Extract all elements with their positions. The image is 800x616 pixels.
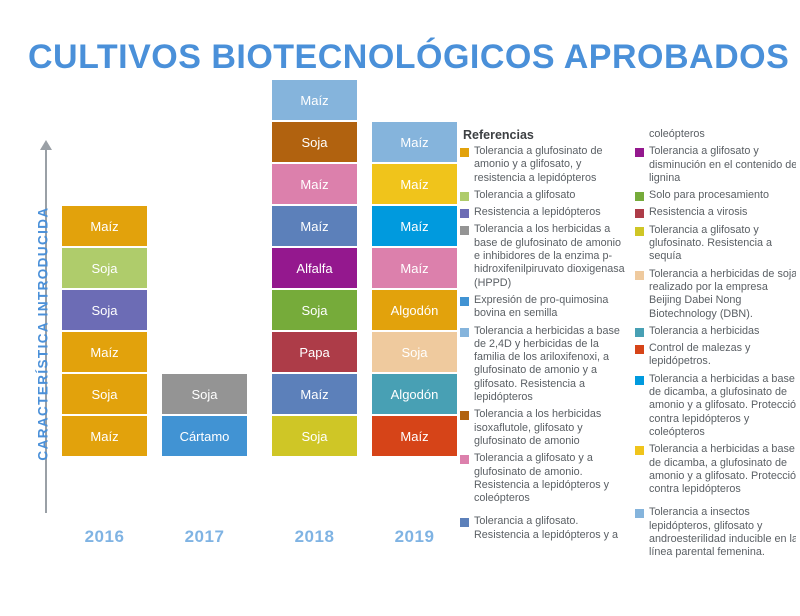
- bar-segment: Maíz: [62, 416, 147, 456]
- bar-column-2018: MaízSojaMaízMaízAlfalfaSojaPapaMaízSoja: [272, 80, 357, 456]
- legend-item: Tolerancia a los herbicidas a base de gl…: [460, 223, 628, 289]
- legend-item-label: Tolerancia a herbicidas a base de dicamb…: [649, 443, 796, 496]
- legend-swatch-icon: [460, 411, 469, 420]
- legend-swatch-icon: [460, 518, 469, 527]
- legend-swatch-icon: [635, 192, 644, 201]
- bar-segment: Soja: [62, 374, 147, 414]
- legend-item: Resistencia a virosis: [635, 206, 796, 219]
- legend-swatch-icon: [635, 446, 644, 455]
- bar-segment: Papa: [272, 332, 357, 372]
- legend-item-label: Tolerancia a herbicidas a base de dicamb…: [649, 373, 796, 439]
- legend-swatch-icon: [635, 209, 644, 218]
- legend-item: Tolerancia a glifosato y disminución en …: [635, 145, 796, 185]
- legend-swatch-icon: [635, 376, 644, 385]
- legend-item-label: Tolerancia a glifosato y glufosinato. Re…: [649, 224, 796, 264]
- legend-swatch-icon: [460, 148, 469, 157]
- legend-item: Tolerancia a herbicidas a base de dicamb…: [635, 373, 796, 439]
- bar-segment: Maíz: [272, 374, 357, 414]
- bar-column-2019: MaízMaízMaízMaízAlgodónSojaAlgodónMaíz: [372, 122, 457, 456]
- legend-swatch-icon: [460, 455, 469, 464]
- legend-swatch-icon: [635, 148, 644, 157]
- legend-item-label: Tolerancia a glifosato y a glufosinato d…: [474, 452, 628, 505]
- legend-item: Tolerancia a herbicidas: [635, 325, 796, 338]
- legend-item-label: Control de malezas y lepidópetros.: [649, 342, 796, 369]
- bar-segment: Soja: [62, 248, 147, 288]
- legend-swatch-icon: [635, 271, 644, 280]
- bar-segment: Soja: [272, 290, 357, 330]
- x-axis-label-2017: 2017: [162, 527, 247, 547]
- legend-item-label: Tolerancia a glifosato: [474, 189, 575, 202]
- x-axis-label-2019: 2019: [372, 527, 457, 547]
- bar-column-2016: MaízSojaSojaMaízSojaMaíz: [62, 206, 147, 456]
- legend-item: Resistencia a lepidópteros: [460, 206, 628, 219]
- legend-item: Tolerancia a glifosato y glufosinato. Re…: [635, 224, 796, 264]
- legend-item-label: Tolerancia a glifosato. Resistencia a le…: [474, 515, 628, 542]
- legend-swatch-icon: [635, 328, 644, 337]
- legend-item: Tolerancia a glifosato: [460, 189, 628, 202]
- legend-item: Tolerancia a herbicidas a base de dicamb…: [635, 443, 796, 496]
- legend-item: Solo para procesamiento: [635, 189, 796, 202]
- legend-item-label: Tolerancia a herbicidas a base de 2,4D y…: [474, 325, 628, 405]
- legend-item-label: Tolerancia a herbicidas de soja, realiza…: [649, 268, 796, 321]
- stacked-bar-chart: CARACTERÍSTICA INTRODUCIDA MaízSojaSojaM…: [0, 0, 455, 560]
- legend-item-label: Resistencia a virosis: [649, 206, 747, 219]
- bar-segment: Maíz: [272, 206, 357, 246]
- bar-column-2017: SojaCártamo: [162, 374, 247, 456]
- bar-segment: Maíz: [372, 164, 457, 204]
- legend-swatch-icon: [635, 227, 644, 236]
- legend-swatch-icon: [460, 226, 469, 235]
- bar-segment: Soja: [372, 332, 457, 372]
- legend-column-right: coleópterosTolerancia a glifosato y dism…: [635, 128, 796, 564]
- legend-item: Tolerancia a glifosato. Resistencia a le…: [460, 515, 628, 542]
- bar-segment: Maíz: [272, 80, 357, 120]
- legend-item: Tolerancia a herbicidas a base de 2,4D y…: [460, 325, 628, 405]
- x-axis-label-2016: 2016: [62, 527, 147, 547]
- legend-item-label: Tolerancia a insectos lepidópteros, glif…: [649, 506, 796, 559]
- legend-item: Tolerancia a los herbicidas isoxaflutole…: [460, 408, 628, 448]
- legend-swatch-icon: [460, 328, 469, 337]
- legend-item: Expresión de pro-quimosina bovina en sem…: [460, 294, 628, 321]
- bar-segment: Cártamo: [162, 416, 247, 456]
- legend-item-label: Tolerancia a los herbicidas isoxaflutole…: [474, 408, 628, 448]
- legend-swatch-icon: [460, 297, 469, 306]
- legend-item-label: Tolerancia a herbicidas: [649, 325, 759, 338]
- legend-column-left: Tolerancia a glufosinato de amonio y a g…: [460, 128, 628, 546]
- y-axis-label: CARACTERÍSTICA INTRODUCIDA: [36, 184, 51, 484]
- legend-swatch-icon: [635, 509, 644, 518]
- bar-segment: Alfalfa: [272, 248, 357, 288]
- legend-item-continuation: coleópteros: [649, 128, 796, 141]
- bar-segment: Maíz: [62, 332, 147, 372]
- legend-item-label: Expresión de pro-quimosina bovina en sem…: [474, 294, 628, 321]
- bar-segment: Maíz: [372, 416, 457, 456]
- bar-segment: Maíz: [372, 122, 457, 162]
- x-axis-label-2018: 2018: [272, 527, 357, 547]
- bar-segment: Maíz: [272, 164, 357, 204]
- legend-swatch-icon: [635, 345, 644, 354]
- legend-item: Tolerancia a herbicidas de soja, realiza…: [635, 268, 796, 321]
- bar-segment: Soja: [162, 374, 247, 414]
- bar-segment: Soja: [62, 290, 147, 330]
- bar-segment: Maíz: [372, 206, 457, 246]
- bar-segment: Maíz: [372, 248, 457, 288]
- legend-item-label: Solo para procesamiento: [649, 189, 769, 202]
- legend: Referencias Tolerancia a glufosinato de …: [460, 128, 796, 616]
- legend-item: Control de malezas y lepidópetros.: [635, 342, 796, 369]
- legend-swatch-icon: [460, 192, 469, 201]
- bar-segment: Algodón: [372, 374, 457, 414]
- bar-segment: Soja: [272, 122, 357, 162]
- legend-item-label: Tolerancia a los herbicidas a base de gl…: [474, 223, 628, 289]
- bar-segment: Algodón: [372, 290, 457, 330]
- bar-segment: Maíz: [62, 206, 147, 246]
- legend-swatch-icon: [460, 209, 469, 218]
- legend-item-label: Tolerancia a glifosato y disminución en …: [649, 145, 796, 185]
- legend-item: Tolerancia a insectos lepidópteros, glif…: [635, 506, 796, 559]
- legend-item: Tolerancia a glifosato y a glufosinato d…: [460, 452, 628, 505]
- legend-item-label: Resistencia a lepidópteros: [474, 206, 601, 219]
- bar-segment: Soja: [272, 416, 357, 456]
- legend-item-label: Tolerancia a glufosinato de amonio y a g…: [474, 145, 628, 185]
- legend-item: Tolerancia a glufosinato de amonio y a g…: [460, 145, 628, 185]
